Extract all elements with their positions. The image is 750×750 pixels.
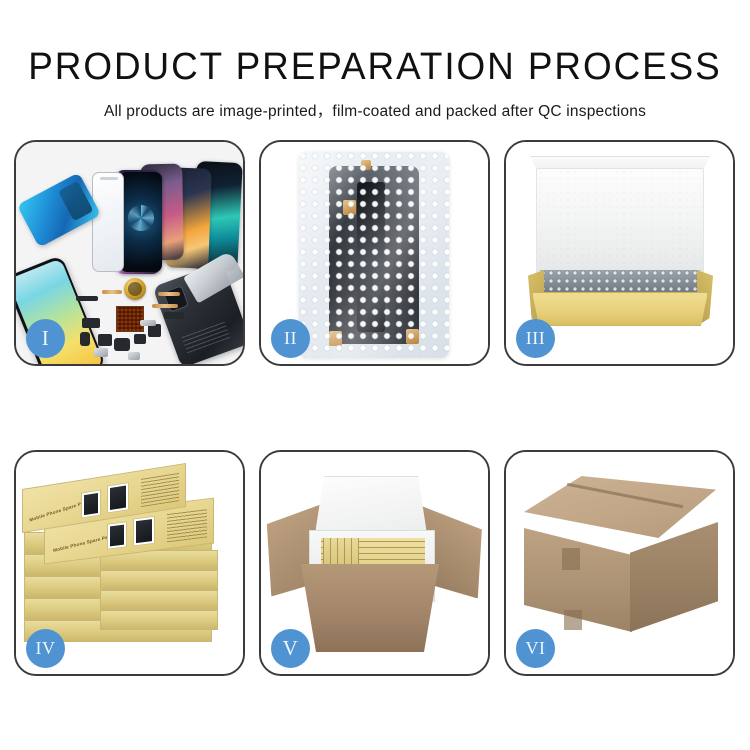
step-card-2: II xyxy=(259,140,490,366)
part-motor xyxy=(114,338,130,351)
carton-top-face xyxy=(524,476,716,538)
bubble-wrap-layer xyxy=(540,270,700,294)
header: PRODUCT PREPARATION PROCESS All products… xyxy=(0,0,750,121)
flex-cable-3 xyxy=(102,290,122,294)
flex-cable-1 xyxy=(152,304,178,308)
box-layer-offset-3 xyxy=(100,590,218,610)
tempered-glass-sheet xyxy=(92,172,124,272)
foam-lid xyxy=(315,476,427,534)
part-bracket xyxy=(164,312,184,319)
step-card-4: Mobile Phone Spare Parts Mobile Phone Sp… xyxy=(14,450,245,676)
screen-flex-ribbon xyxy=(357,182,385,332)
box-front-panel xyxy=(532,292,708,326)
step-card-5: V xyxy=(259,450,490,676)
metal-shield-3 xyxy=(140,320,156,326)
box-label-front: Mobile Phone Spare Parts xyxy=(53,533,115,553)
box-window-top-1 xyxy=(81,489,101,518)
carton-right-face xyxy=(630,522,718,632)
box-window-top-2 xyxy=(107,482,129,513)
step-card-6: VI xyxy=(504,450,735,676)
part-camera xyxy=(98,334,112,346)
steps-grid: I II xyxy=(14,140,736,676)
step-badge-3: III xyxy=(516,319,555,358)
carton-tape-upper xyxy=(562,548,580,570)
box-layer-offset-2 xyxy=(100,570,218,590)
box-window-front-1 xyxy=(107,521,127,549)
speaker-coil-part xyxy=(124,278,146,300)
part-block xyxy=(82,318,100,328)
bubble-bag xyxy=(299,152,449,358)
tape-tab-3 xyxy=(406,329,419,344)
tape-tab-2 xyxy=(329,331,342,346)
screen-assembly xyxy=(329,166,419,344)
part-ic xyxy=(134,334,146,344)
step-badge-5: V xyxy=(271,629,310,668)
step-card-1: I xyxy=(14,140,245,366)
step-badge-2: II xyxy=(271,319,310,358)
carton-body xyxy=(295,564,445,652)
step-badge-4: IV xyxy=(26,629,65,668)
step-badge-1: I xyxy=(26,319,65,358)
step-badge-6: VI xyxy=(516,629,555,668)
box-text-lines-front xyxy=(167,507,207,542)
metal-shield-1 xyxy=(94,348,108,357)
page-subtitle: All products are image-printed，film-coat… xyxy=(0,99,750,121)
chip-grid-part xyxy=(116,306,144,332)
flex-cable-2 xyxy=(158,292,180,296)
tape-tab-1 xyxy=(343,200,356,215)
part-connector xyxy=(80,332,90,346)
plastic-sheen xyxy=(299,152,449,358)
blue-protector-film xyxy=(17,172,101,247)
box-layer-offset-4 xyxy=(100,610,218,630)
tape-tab-4 xyxy=(361,160,371,170)
page-title: PRODUCT PREPARATION PROCESS xyxy=(11,48,739,86)
foam-sheet xyxy=(536,168,704,274)
carton-tape-lower xyxy=(564,610,582,630)
box-window-front-2 xyxy=(133,516,155,547)
part-strip xyxy=(76,296,98,301)
product-preparation-infographic: PRODUCT PREPARATION PROCESS All products… xyxy=(0,0,750,750)
spare-parts-cluster xyxy=(72,276,192,362)
phone-dark-spiral xyxy=(120,172,162,272)
metal-shield-2 xyxy=(128,352,140,360)
step-card-3: III xyxy=(504,140,735,366)
box-text-lines-top xyxy=(141,471,179,507)
